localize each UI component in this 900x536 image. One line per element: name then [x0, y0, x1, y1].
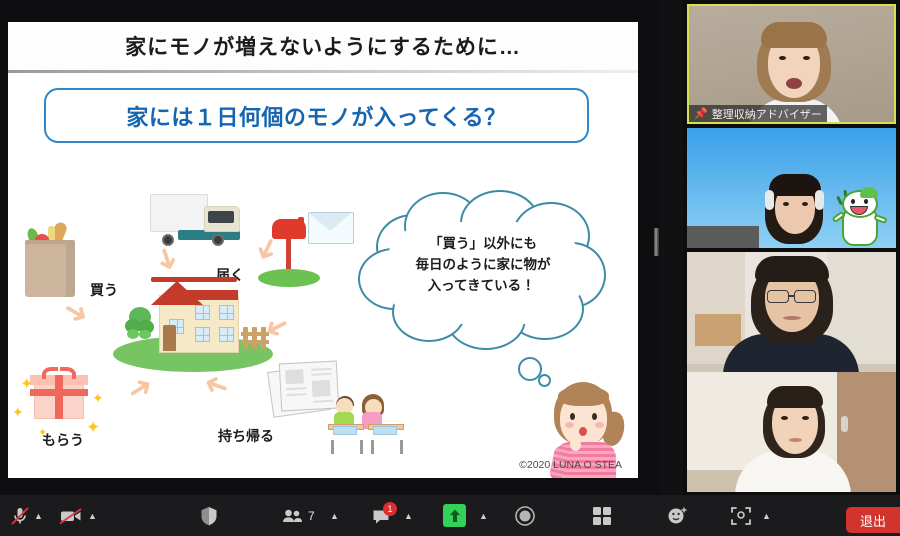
girl-mouth: [579, 427, 587, 436]
shared-screen-area: 家にモノが増えないようにするために… 家には１日何個のモノが入ってくる？ 買う: [0, 0, 660, 495]
truck-window: [208, 211, 234, 223]
house-window: [219, 327, 234, 342]
chevron-up-icon: ▲: [88, 511, 97, 521]
mailbox-post: [286, 237, 291, 269]
chevron-up-icon: ▲: [330, 511, 339, 521]
title-divider: [8, 70, 638, 73]
participants-button[interactable]: 7: [280, 495, 315, 536]
student-book: [333, 426, 357, 435]
breakout-rooms-button[interactable]: [591, 495, 613, 536]
share-screen-button[interactable]: [443, 495, 466, 536]
arrow-gift-to-house: ➜: [122, 370, 159, 409]
security-button[interactable]: [198, 495, 220, 536]
video-muted-icon: [58, 504, 84, 528]
house-window: [219, 305, 234, 320]
question-text: 家には１日何個のモノが入ってくる？: [126, 100, 506, 132]
copyright-text: ©2020 LUNA O STEA: [519, 459, 622, 471]
truck-cargo: [150, 194, 208, 232]
record-icon: [513, 504, 537, 528]
leave-meeting-button[interactable]: 退出: [846, 507, 900, 533]
share-screen-icon: [448, 508, 462, 524]
video-tile-2[interactable]: [687, 128, 896, 248]
gift-box-illustration: [30, 367, 88, 419]
house-illustration: [113, 277, 273, 372]
mailbox-body: [272, 219, 306, 239]
students-illustration: [328, 390, 408, 452]
video-tile-3[interactable]: [687, 252, 896, 372]
gift-ribbon-horizontal: [30, 389, 88, 396]
house-roof-left: [151, 281, 203, 305]
arrow-buy-to-house: ➜: [57, 294, 94, 333]
sparkle-icon: ✦: [92, 390, 104, 407]
grocery-bag-illustration: [22, 222, 78, 297]
focus-frame-icon: [730, 505, 752, 527]
girl-fringe: [558, 386, 609, 406]
girl-cheek: [595, 422, 604, 428]
delivery-truck-illustration: [150, 192, 246, 252]
focus-frame-options[interactable]: ▲: [762, 495, 771, 536]
label-bring-home: 持ち帰る: [218, 426, 274, 446]
stop-video-button[interactable]: [58, 495, 84, 536]
sparkle-icon: ✦: [20, 374, 33, 394]
girl-eye: [570, 413, 575, 420]
question-box: 家には１日何個のモノが入ってくる？: [44, 88, 589, 143]
gift-ribbon-vertical: [55, 375, 63, 419]
reactions-button[interactable]: [665, 495, 691, 536]
girl-eye: [592, 413, 597, 420]
video-tile-4[interactable]: [687, 372, 896, 492]
participant-filmstrip: 📌 整理収納アドバイザー: [683, 0, 900, 495]
focus-frame-button[interactable]: [730, 495, 752, 536]
slide-title: 家にモノが増えないようにするために…: [125, 31, 521, 61]
participants-count: 7: [308, 509, 315, 523]
bubble-text: 「買う」以外にも 毎日のように家に物が 入ってきている ！: [358, 234, 608, 297]
chevron-up-icon: ▲: [762, 511, 771, 521]
arrow-newspaper-to-house: ➜: [200, 367, 234, 404]
participants-icon: [280, 504, 306, 528]
record-button[interactable]: [513, 495, 537, 536]
share-screen-options[interactable]: ▲: [479, 495, 488, 536]
chat-options[interactable]: ▲: [404, 495, 413, 536]
mascot-character: [836, 188, 884, 248]
shield-icon: [198, 504, 220, 528]
label-receive: もらう: [42, 430, 84, 450]
video-tile-1[interactable]: 📌 整理収納アドバイザー: [687, 4, 896, 124]
chevron-up-icon: ▲: [34, 511, 43, 521]
participant-name-1: 整理収納アドバイザー: [712, 106, 822, 122]
chat-unread-badge: 1: [383, 502, 397, 516]
mute-audio-button[interactable]: [8, 495, 32, 536]
envelope-illustration: [308, 212, 354, 244]
student-book: [373, 426, 397, 435]
house-window: [195, 327, 210, 342]
thought-bubble: 「買う」以外にも 毎日のように家に物が 入ってきている ！: [358, 190, 608, 355]
panel-divider-handle[interactable]: [654, 228, 659, 256]
zoom-meeting-window: 家にモノが増えないようにするために… 家には１日何個のモノが入ってくる？ 買う: [0, 0, 900, 536]
chevron-up-icon: ▲: [404, 511, 413, 521]
presentation-slide: 家にモノが増えないようにするために… 家には１日何個のモノが入ってくる？ 買う: [8, 22, 638, 478]
bag-body: [25, 244, 75, 297]
sparkle-icon: ✦: [12, 404, 24, 421]
participant-name-bar-1: 📌 整理収納アドバイザー: [689, 105, 827, 122]
house-ridge: [151, 277, 237, 282]
reactions-icon: [665, 504, 691, 528]
slide-title-bar: 家にモノが増えないようにするために…: [8, 22, 638, 70]
truck-wheel: [212, 234, 224, 246]
breakout-rooms-icon: [591, 505, 613, 527]
girl-hand: [570, 438, 581, 451]
mute-audio-options[interactable]: ▲: [34, 495, 43, 536]
microphone-muted-icon: [8, 504, 32, 528]
pin-icon: 📌: [694, 107, 708, 120]
tree-icon: [125, 307, 155, 339]
chevron-up-icon: ▲: [479, 511, 488, 521]
chat-button[interactable]: 1: [370, 495, 394, 536]
house-window: [195, 305, 210, 320]
gift-bow-right: [60, 367, 76, 379]
sparkle-icon: ✦: [86, 418, 100, 438]
house-door: [163, 325, 176, 351]
meeting-toolbar: ▲ ▲ 7: [0, 495, 900, 536]
stop-video-options[interactable]: ▲: [88, 495, 97, 536]
participants-options[interactable]: ▲: [330, 495, 339, 536]
girl-cheek: [565, 422, 574, 428]
